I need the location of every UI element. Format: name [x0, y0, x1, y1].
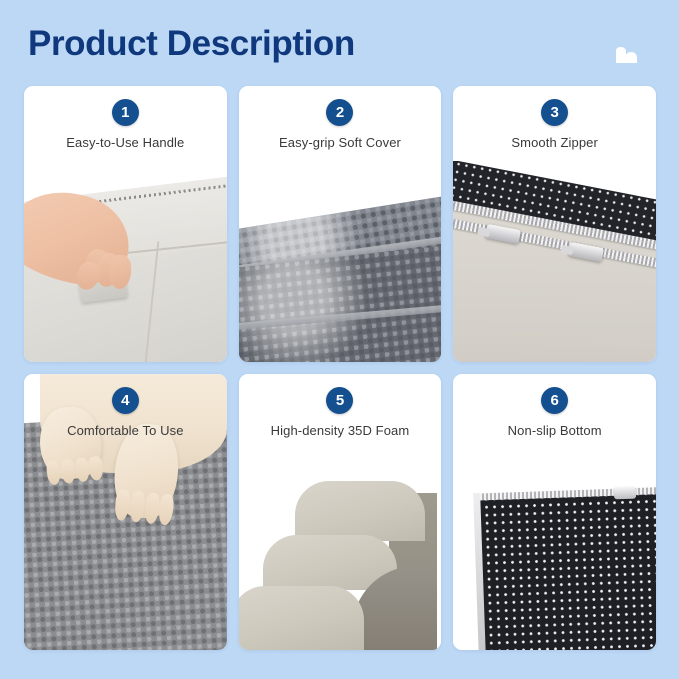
- step-badge: 6: [541, 387, 568, 414]
- step-badge: 2: [326, 99, 353, 126]
- product-description-infographic: Product Description: [0, 0, 679, 679]
- feature-card-3[interactable]: 3 Smooth Zipper: [453, 86, 656, 362]
- feature-caption-1: 1 Easy-to-Use Handle: [24, 86, 227, 150]
- step-badge: 5: [326, 387, 353, 414]
- stairs-mark-icon: [613, 40, 641, 64]
- feature-card-1[interactable]: 1 Easy-to-Use Handle: [24, 86, 227, 362]
- step-badge: 1: [112, 99, 139, 126]
- feature-image-6: [453, 449, 656, 650]
- feature-image-1: [24, 161, 227, 362]
- feature-card-6[interactable]: 6 Non-slip Bottom: [453, 374, 656, 650]
- feature-card-grid: 1 Easy-to-Use Handle 2 Easy-grip Soft Co…: [24, 86, 656, 650]
- feature-image-2: [239, 161, 442, 362]
- feature-caption-5: 5 High-density 35D Foam: [239, 374, 442, 438]
- feature-card-4[interactable]: 4 Comfortable To Use: [24, 374, 227, 650]
- feature-label: Easy-grip Soft Cover: [239, 135, 442, 150]
- header: Product Description: [0, 0, 679, 86]
- step-badge: 3: [541, 99, 568, 126]
- feature-card-2[interactable]: 2 Easy-grip Soft Cover: [239, 86, 442, 362]
- feature-label: Non-slip Bottom: [453, 423, 656, 438]
- feature-label: Easy-to-Use Handle: [24, 135, 227, 150]
- feature-image-3: [453, 161, 656, 362]
- feature-label: High-density 35D Foam: [239, 423, 442, 438]
- feature-image-4: [24, 374, 227, 650]
- feature-image-5: [239, 449, 442, 650]
- page-title: Product Description: [28, 24, 355, 64]
- feature-label: Smooth Zipper: [453, 135, 656, 150]
- feature-caption-3: 3 Smooth Zipper: [453, 86, 656, 150]
- feature-caption-2: 2 Easy-grip Soft Cover: [239, 86, 442, 150]
- feature-card-5[interactable]: 5 High-density 35D Foam: [239, 374, 442, 650]
- feature-caption-6: 6 Non-slip Bottom: [453, 374, 656, 438]
